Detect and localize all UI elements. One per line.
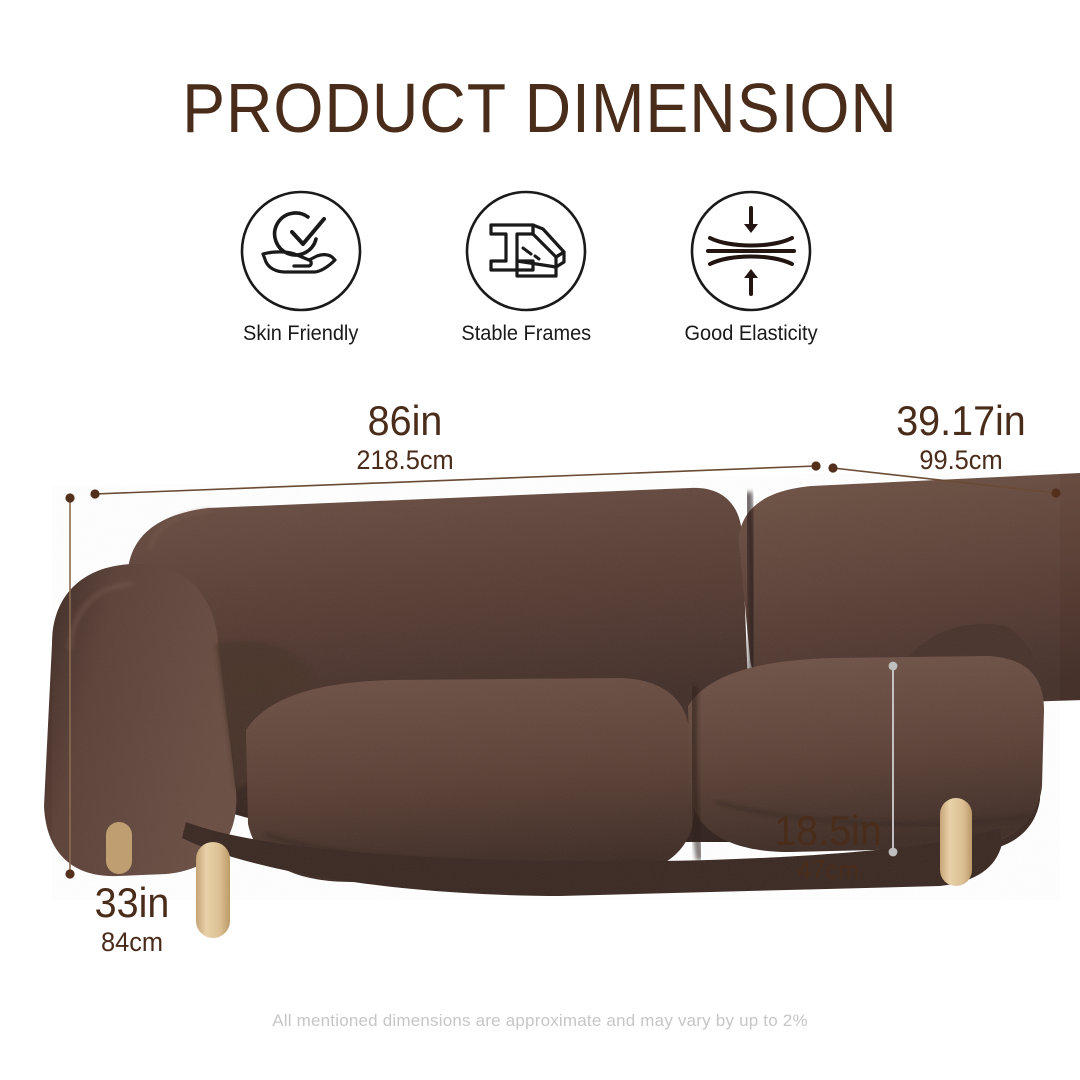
dimension-inches: 86in — [303, 398, 506, 444]
dimension-inches: 39.17in — [855, 398, 1067, 444]
dimension-inches: 18.5in — [739, 808, 918, 854]
i-beam-frame-icon — [461, 186, 591, 316]
footer-disclaimer: All mentioned dimensions are approximate… — [0, 1011, 1080, 1031]
sofa-leg-back-left — [106, 822, 132, 874]
feature-skin-friendly: Skin Friendly — [196, 186, 406, 346]
dimension-label-height: 33in 84cm — [47, 880, 216, 958]
dimension-cm: 84cm — [47, 926, 216, 958]
dimension-cm: 47cm — [739, 854, 918, 886]
feature-good-elasticity: Good Elasticity — [646, 186, 856, 346]
dimension-cm: 99.5cm — [855, 444, 1067, 476]
sofa-leg-front-right — [940, 798, 972, 886]
feature-label: Skin Friendly — [243, 322, 358, 346]
product-dimension-infographic: PRODUCT DIMENSION Skin Friendly Stable F… — [0, 0, 1080, 1080]
feature-label: Good Elasticity — [684, 322, 817, 346]
page-title: PRODUCT DIMENSION — [43, 68, 1037, 148]
dimension-label-width: 86in 218.5cm — [303, 398, 506, 476]
feature-stable-frames: Stable Frames — [421, 186, 631, 346]
dimension-label-depth: 39.17in 99.5cm — [855, 398, 1067, 476]
elasticity-arrows-icon — [686, 186, 816, 316]
feature-badge-row: Skin Friendly Stable Frames — [196, 186, 856, 366]
hand-check-icon — [236, 186, 366, 316]
dimension-label-seat-height: 18.5in 47cm — [739, 808, 918, 886]
dimension-inches: 33in — [47, 880, 216, 926]
feature-label: Stable Frames — [461, 322, 591, 346]
dimension-cm: 218.5cm — [303, 444, 506, 476]
